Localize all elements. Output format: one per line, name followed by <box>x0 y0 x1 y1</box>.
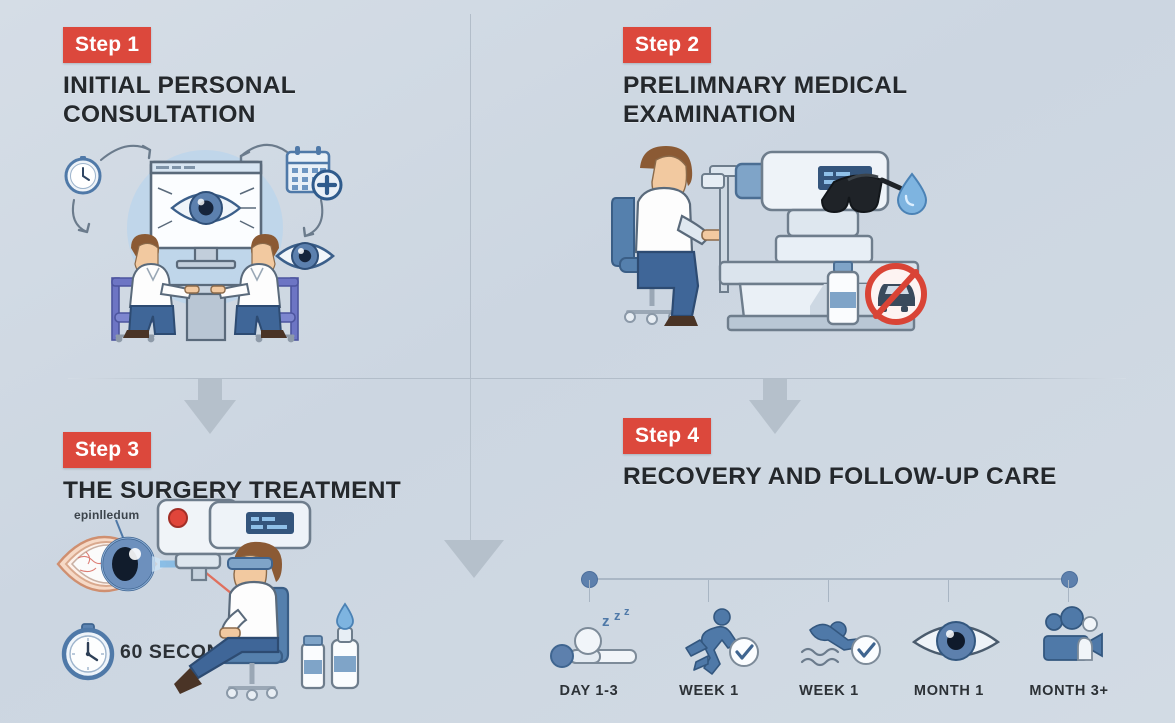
svg-text:z: z <box>614 608 621 623</box>
timeline-label-1: DAY 1-3 <box>524 683 654 699</box>
step-4-header: Step 4 RECOVERY AND FOLLOW-UP CARE <box>623 418 1057 492</box>
step-4-badge: Step 4 <box>623 418 711 454</box>
stopwatch-icon <box>64 624 112 678</box>
step-1-badge: Step 1 <box>63 27 151 63</box>
step-1-title: INITIAL PERSONAL CONSULTATION <box>63 72 296 129</box>
timeline-tick-5 <box>1068 580 1069 602</box>
timeline-tick-4 <box>948 580 949 602</box>
svg-text:z: z <box>624 606 630 618</box>
infographic-canvas: Step 1 INITIAL PERSONAL CONSULTATION <box>0 0 1175 723</box>
step-3-badge: Step 3 <box>63 432 151 468</box>
eye-icon <box>900 608 1012 670</box>
eye-drop-bottles <box>302 604 358 688</box>
step-2-badge: Step 2 <box>623 27 711 63</box>
flow-arrow-stem-right <box>763 379 787 401</box>
timeline-tick-1 <box>589 580 590 602</box>
timeline-tick-2 <box>708 580 709 602</box>
swimmer-check-icon <box>780 608 892 670</box>
step-1-header: Step 1 INITIAL PERSONAL CONSULTATION <box>63 27 296 129</box>
flow-arrow-down-left <box>184 400 236 434</box>
sleeping-person-zzz-icon: z z z <box>540 608 652 670</box>
step-3-illustration <box>56 498 368 703</box>
step-2-header: Step 2 PRELIMNARY MEDICAL EXAMINATION <box>623 27 907 129</box>
clock-icon <box>66 156 100 193</box>
center-flow-stem <box>470 379 471 544</box>
eye-drop-bottle-icon <box>828 262 858 324</box>
vertical-divider <box>470 14 471 378</box>
running-person-check-icon <box>660 608 772 670</box>
step-2-title: PRELIMNARY MEDICAL EXAMINATION <box>623 72 907 129</box>
timeline-dot-end <box>1061 571 1078 588</box>
flow-arrow-stem-left <box>198 379 222 401</box>
protective-goggles <box>228 558 272 569</box>
step-4-title: RECOVERY AND FOLLOW-UP CARE <box>623 463 1057 492</box>
calendar-plus-icon <box>287 146 341 199</box>
eye-icon <box>277 243 333 269</box>
timeline-label-2: WEEK 1 <box>644 683 774 699</box>
cross-section-eye <box>58 537 166 591</box>
timeline-tick-3 <box>828 580 829 602</box>
no-driving-icon <box>868 266 924 322</box>
step-1-illustration <box>55 128 355 340</box>
group-people-icon <box>1020 608 1132 670</box>
step-3-header: Step 3 THE SURGERY TREATMENT <box>63 432 401 506</box>
horizontal-divider <box>68 378 1126 379</box>
timeline-label-5: MONTH 3+ <box>1004 683 1134 699</box>
water-drop-icon <box>898 174 926 214</box>
svg-text:z: z <box>602 613 610 630</box>
step-2-illustration <box>612 130 952 340</box>
timeline-label-4: MONTH 1 <box>884 683 1014 699</box>
timeline-label-3: WEEK 1 <box>764 683 894 699</box>
flow-arrow-down-center <box>444 540 504 578</box>
